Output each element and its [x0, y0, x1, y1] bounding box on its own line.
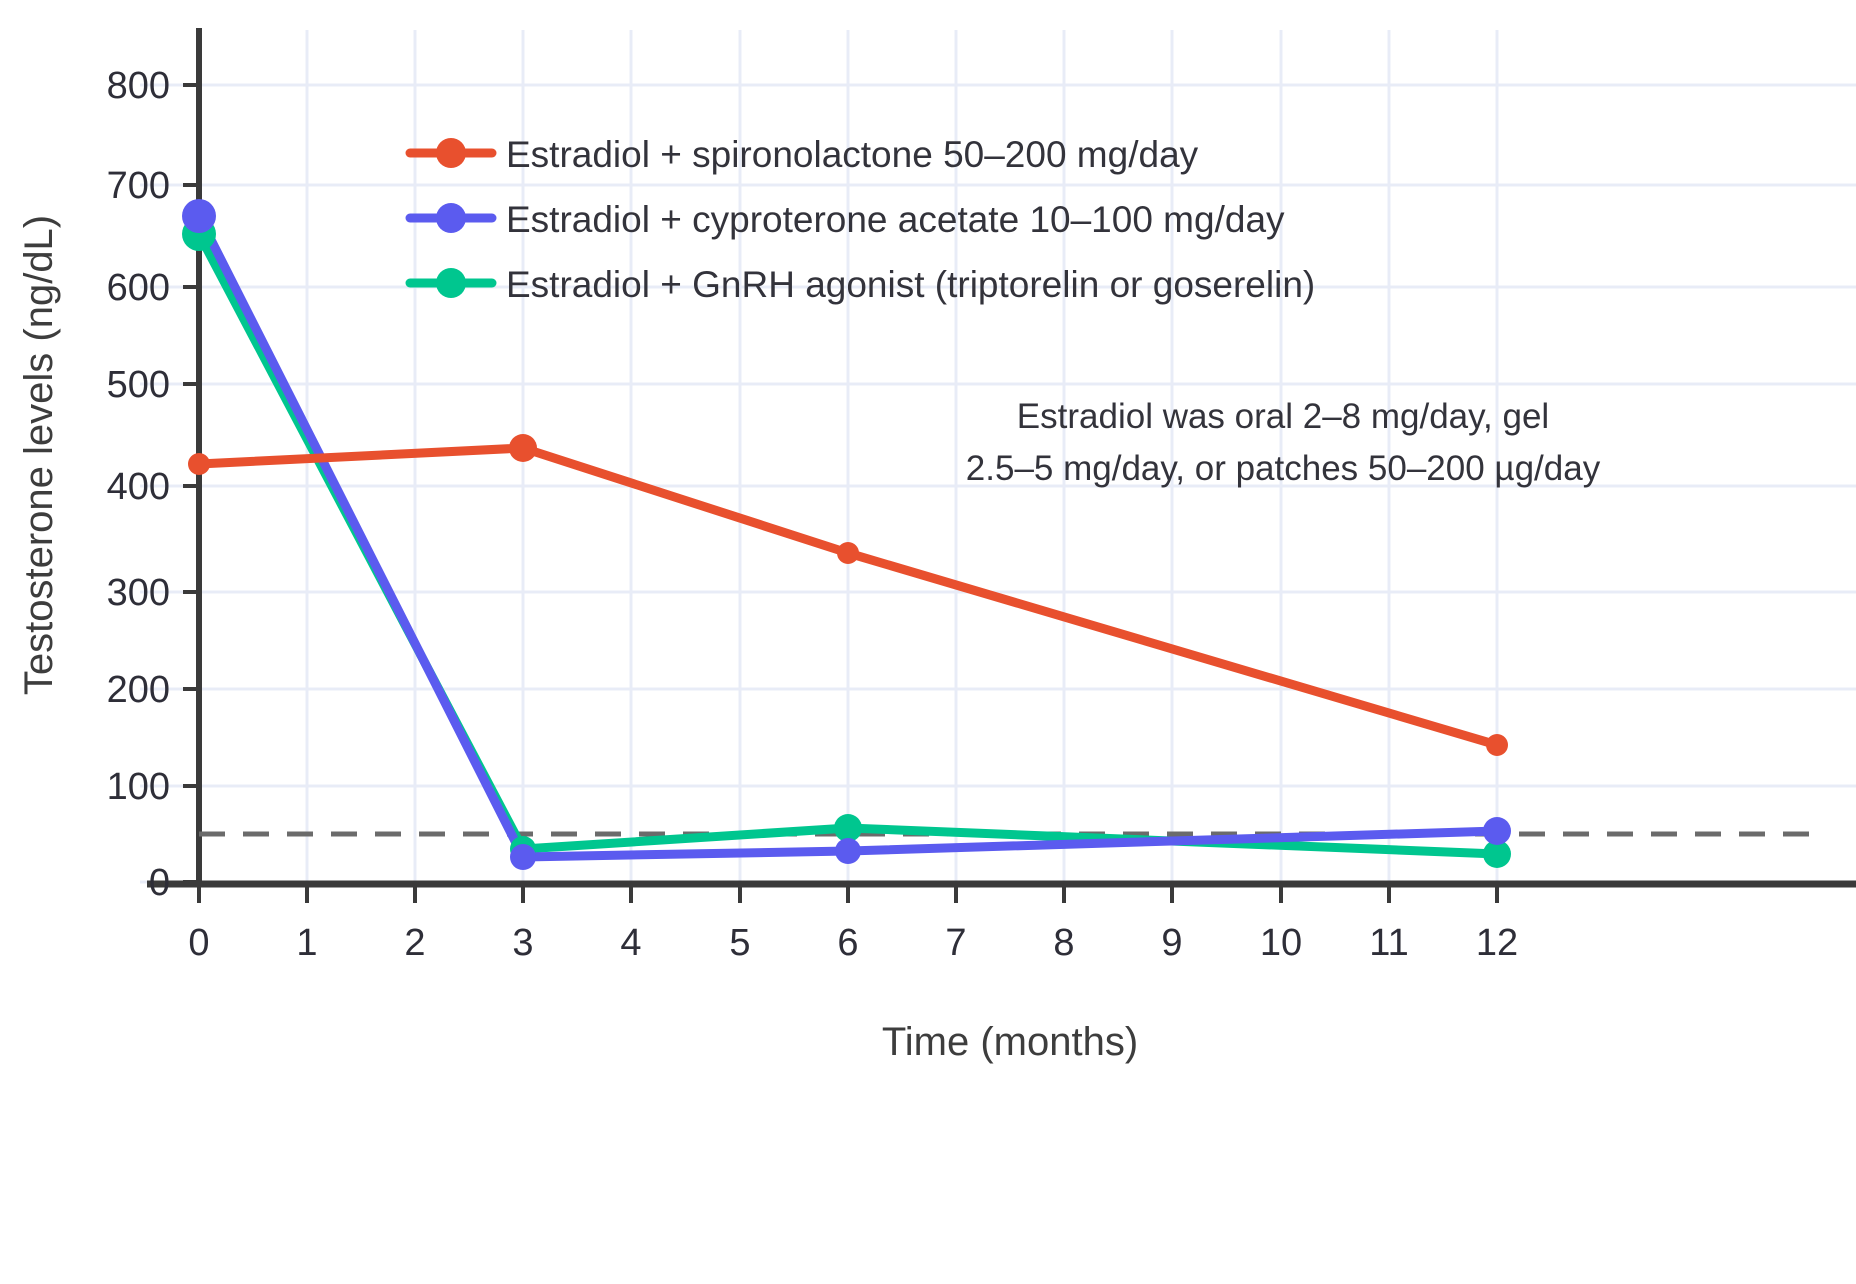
chart-container: 0 100 200 300 400 500 600 700 800 0 1 2 …: [0, 0, 1856, 1284]
data-point: [510, 844, 536, 870]
data-point: [837, 542, 859, 564]
x-tick-label: 6: [837, 922, 858, 964]
y-tick-label: 400: [107, 466, 170, 508]
annotation-line-2: 2.5–5 mg/day, or patches 50–200 µg/day: [966, 449, 1601, 488]
chart-legend: Estradiol + spironolactone 50–200 mg/day…: [410, 134, 1315, 305]
y-tick-label: 500: [107, 364, 170, 406]
y-tick-label: 0: [149, 862, 170, 904]
x-tick-label: 8: [1053, 922, 1074, 964]
x-tick-label: 1: [296, 922, 317, 964]
y-tick-label: 800: [107, 65, 170, 107]
line-chart: 0 100 200 300 400 500 600 700 800 0 1 2 …: [0, 0, 1856, 1284]
x-axis-tick-labels: 0 1 2 3 4 5 6 7 8 9 10 11 12: [188, 922, 1518, 964]
legend-swatch-marker: [436, 138, 466, 168]
annotation-estradiol-dosing: Estradiol was oral 2–8 mg/day, gel 2.5–5…: [966, 397, 1601, 488]
y-axis-title: Testosterone levels (ng/dL): [17, 215, 61, 695]
x-tick-label: 9: [1161, 922, 1182, 964]
legend-item-cyproterone-acetate[interactable]: Estradiol + cyproterone acetate 10–100 m…: [410, 199, 1285, 240]
x-tick-label: 2: [404, 922, 425, 964]
legend-swatch-marker: [436, 203, 466, 233]
legend-swatch-marker: [436, 268, 466, 298]
data-point: [509, 434, 537, 462]
y-tick-label: 100: [107, 766, 170, 808]
data-point: [835, 838, 861, 864]
x-axis-title: Time (months): [882, 1020, 1138, 1064]
data-point: [188, 453, 210, 475]
legend-label-spironolactone: Estradiol + spironolactone 50–200 mg/day: [506, 134, 1199, 175]
legend-item-spironolactone[interactable]: Estradiol + spironolactone 50–200 mg/day: [410, 134, 1199, 175]
x-tick-label: 3: [512, 922, 533, 964]
legend-label-gnrh-agonist: Estradiol + GnRH agonist (triptorelin or…: [506, 264, 1315, 305]
legend-item-gnrh-agonist[interactable]: Estradiol + GnRH agonist (triptorelin or…: [410, 264, 1315, 305]
x-tick-label: 12: [1476, 922, 1518, 964]
x-tick-label: 4: [620, 922, 641, 964]
y-tick-label: 600: [107, 267, 170, 309]
data-point: [1483, 817, 1511, 845]
annotation-line-1: Estradiol was oral 2–8 mg/day, gel: [1017, 397, 1549, 436]
data-point: [1486, 734, 1508, 756]
y-tick-label: 300: [107, 572, 170, 614]
y-tick-label: 200: [107, 669, 170, 711]
x-tick-label: 0: [188, 922, 209, 964]
y-axis-tick-labels: 0 100 200 300 400 500 600 700 800: [107, 65, 170, 904]
x-tick-label: 11: [1369, 922, 1408, 964]
data-point: [834, 814, 862, 842]
y-tick-label: 700: [107, 165, 170, 207]
x-tick-label: 7: [945, 922, 966, 964]
data-point: [182, 199, 216, 233]
x-tick-label: 5: [729, 922, 750, 964]
x-tick-label: 10: [1260, 922, 1302, 964]
legend-label-cyproterone-acetate: Estradiol + cyproterone acetate 10–100 m…: [506, 199, 1285, 240]
